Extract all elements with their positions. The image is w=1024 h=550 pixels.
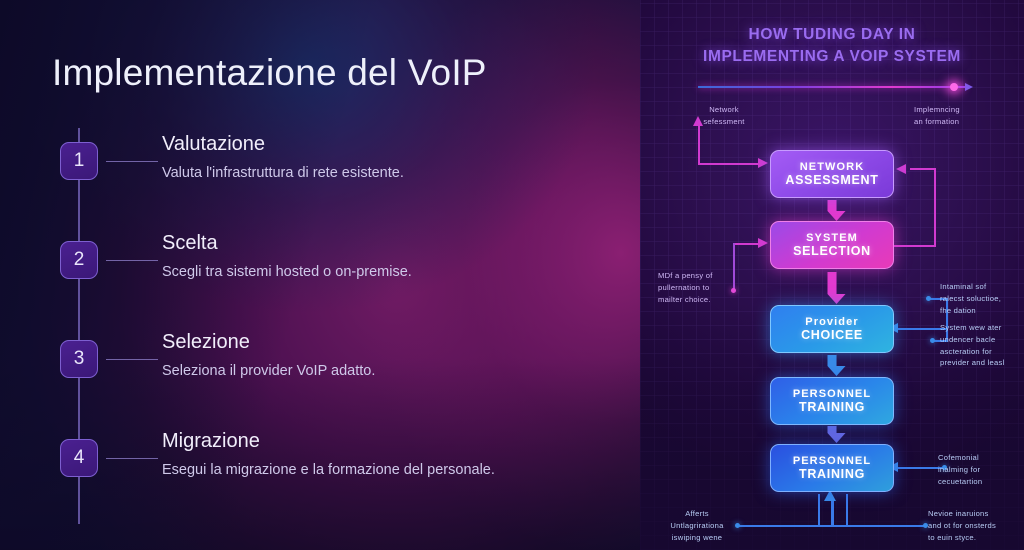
step-title: Scelta <box>162 232 592 255</box>
connector-topleft-vertical <box>698 125 700 165</box>
connector-bottom-right-riser <box>846 494 848 526</box>
annotation-top-left: Networksefessment <box>684 104 764 128</box>
left-panel: Implementazione del VoIP 1 Valutazione V… <box>0 0 640 550</box>
annotation-mid-right-2: System wew aterundencer bacleascteration… <box>940 322 1024 369</box>
timeline-step-1[interactable]: 1 Valutazione Valuta l'infrastruttura di… <box>52 128 592 227</box>
timeline-step-3[interactable]: 3 Selezione Seleziona il provider VoIP a… <box>52 326 592 425</box>
connector-loop-arrowhead-icon <box>896 164 906 174</box>
step-description: Scegli tra sistemi hosted o on-premise. <box>162 264 592 280</box>
connector-provider-dot-bottom-icon <box>930 338 935 343</box>
connector-loop-vertical <box>934 168 936 247</box>
timeline: 1 Valutazione Valuta l'infrastruttura di… <box>52 128 592 524</box>
connector-provider-dot-top-icon <box>926 296 931 301</box>
connector-bottom-center-stem <box>831 500 834 526</box>
connector-midleft-horizontal <box>733 243 761 245</box>
right-panel-infographic: HOW TUDING DAY IN IMPLEMENTING A VOIP SY… <box>640 0 1024 550</box>
annotation-mid-left: MDf a pensy ofpullernation tomailter cho… <box>658 270 738 305</box>
heading-underline-glow-dot-icon <box>950 83 958 91</box>
flow-box-personnel-training-1[interactable]: PERSONNEL TRAINING <box>770 377 894 425</box>
annotation-low-right: Cofemonialinalming forcecuetartion <box>938 452 1020 487</box>
flow-box-line1: NETWORK <box>800 161 865 173</box>
flow-box-line1: PERSONNEL <box>793 388 871 400</box>
step-description: Seleziona il provider VoIP adatto. <box>162 363 592 379</box>
step-number-badge: 4 <box>60 439 98 477</box>
flow-box-line1: SYSTEM <box>806 232 858 244</box>
step-title: Valutazione <box>162 133 592 156</box>
heading-underline-arrow-icon <box>698 86 966 88</box>
annotation-bottom-left: AffertsUntlagrirationaiswiping wene <box>656 508 738 543</box>
flow-arrow-4-icon <box>828 426 837 443</box>
flow-box-line2: CHOICEE <box>801 328 863 342</box>
step-connector-line <box>106 359 158 360</box>
step-description: Valuta l'infrastruttura di rete esistent… <box>162 165 592 181</box>
step-connector-line <box>106 458 158 459</box>
annotation-top-right: Implemncingan formation <box>914 104 1004 128</box>
flow-arrow-3-icon <box>828 355 837 376</box>
step-connector-line <box>106 161 158 162</box>
step-number-badge: 2 <box>60 241 98 279</box>
step-title: Selezione <box>162 331 592 354</box>
slide-root: Implementazione del VoIP 1 Valutazione V… <box>0 0 1024 550</box>
annotation-bottom-right: Nevioe inaruionsand ot for onsterdsto eu… <box>928 508 1022 543</box>
connector-midleft-arrowhead-icon <box>758 238 768 248</box>
flow-box-line2: SELECTION <box>793 244 871 258</box>
connector-topleft-horizontal <box>698 163 760 165</box>
page-title: Implementazione del VoIP <box>52 52 487 94</box>
flow-box-line1: PERSONNEL <box>793 455 871 467</box>
infographic-heading-line2: IMPLEMENTING A VOIP SYSTEM <box>640 46 1024 68</box>
flow-box-system-selection[interactable]: SYSTEM SELECTION <box>770 221 894 269</box>
step-number-badge: 3 <box>60 340 98 378</box>
step-title: Migrazione <box>162 430 592 453</box>
flow-box-personnel-training-2[interactable]: PERSONNEL TRAINING <box>770 444 894 492</box>
step-number-badge: 1 <box>60 142 98 180</box>
timeline-step-4[interactable]: 4 Migrazione Esegui la migrazione e la f… <box>52 425 592 524</box>
flow-box-network-assessment[interactable]: NETWORK ASSESSMENT <box>770 150 894 198</box>
annotation-mid-right-1: Intaminal sofralecst soluctioe,fhe datio… <box>940 281 1022 316</box>
flow-arrow-1-icon <box>828 200 837 221</box>
step-description: Esegui la migrazione e la formazione del… <box>162 462 592 478</box>
flow-box-line1: Provider <box>805 316 858 328</box>
connector-topleft-arrowhead-icon <box>758 158 768 168</box>
flow-arrow-2-icon <box>828 272 837 304</box>
connector-loop-bottom <box>894 245 936 247</box>
timeline-step-2[interactable]: 2 Scelta Scegli tra sistemi hosted o on-… <box>52 227 592 326</box>
infographic-heading: HOW TUDING DAY IN IMPLEMENTING A VOIP SY… <box>640 24 1024 68</box>
flow-box-provider-choice[interactable]: Provider CHOICEE <box>770 305 894 353</box>
infographic-heading-line1: HOW TUDING DAY IN <box>640 24 1024 46</box>
flow-box-line2: ASSESSMENT <box>785 173 878 187</box>
step-connector-line <box>106 260 158 261</box>
flow-box-line2: TRAINING <box>799 400 865 414</box>
connector-loop-top <box>910 168 936 170</box>
connector-bottom-left-riser <box>818 494 820 526</box>
flow-box-line2: TRAINING <box>799 467 865 481</box>
